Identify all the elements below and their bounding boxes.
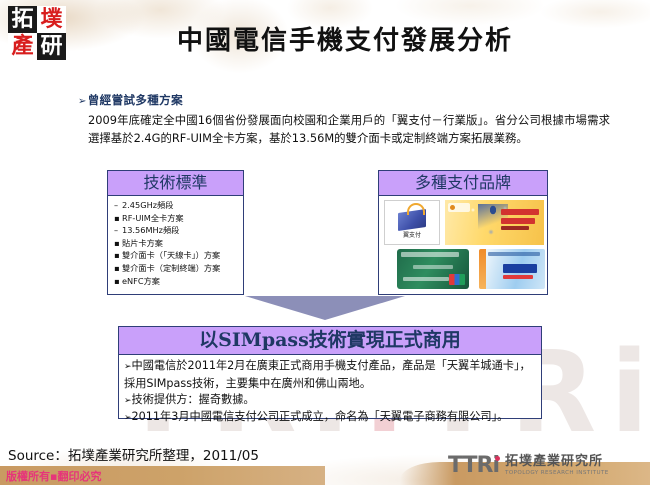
wallet-icon: 翼支付 <box>384 200 440 245</box>
tri-institute-logo: TTRi 拓墣產業研究所 TOPOLOGY RESEARCH INSTITUTE <box>448 452 648 480</box>
ad-slogan-graphic <box>501 209 541 233</box>
tri-name-english: TOPOLOGY RESEARCH INSTITUTE <box>505 469 609 477</box>
list-text: 2.45GHz頻段 <box>122 200 173 210</box>
tri-name-chinese: 拓墣產業研究所 <box>505 455 609 469</box>
list-item: ▪雙介面卡（定制終端）方案 <box>114 262 238 275</box>
list-item: ▪eNFC方案 <box>114 275 238 288</box>
result-bullet: ➢中國電信於2011年2月在廣東正式商用手機支付產品，產品是「天翼羊城通卡」，採… <box>124 358 536 392</box>
card-header-line <box>488 252 540 256</box>
bullet-arrow-icon: ➢ <box>124 413 132 423</box>
card-subtitle-line <box>503 275 533 279</box>
result-bullet-text: 中國電信於2011年2月在廣東正式商用手機支付產品，產品是「天翼羊城通卡」，採用… <box>124 359 531 390</box>
list-item: ▪貼片卡方案 <box>114 237 238 250</box>
list-item: ▪雙介面卡（「天線卡」）方案 <box>114 249 238 262</box>
slide-title: 中國電信手機支付發展分析 <box>95 20 595 57</box>
list-text: 雙介面卡（定制終端）方案 <box>122 263 220 273</box>
section-subheading: ➢曾經嘗試多種方案 <box>78 92 183 108</box>
payment-brands-box: 多種支付品牌 翼支付 <box>378 170 548 295</box>
wallet-caption: 翼支付 <box>385 231 439 240</box>
bullet-arrow-icon: ➢ <box>124 396 132 406</box>
payment-brands-header: 多種支付品牌 <box>379 171 547 196</box>
slide-canvas: TRi.TRi 拓 墣 產 研 中國電信手機支付發展分析 ➢曾經嘗試多種方案 2… <box>0 0 650 485</box>
result-bullet: ➢2011年3月中國電信支付公司正式成立，命名為「天翼電子商務有限公司」。 <box>124 409 536 427</box>
payment-brands-gallery: 翼支付 <box>379 196 547 292</box>
tech-standards-header: 技術標準 <box>108 171 243 196</box>
list-text: RF-UIM全卡方案 <box>122 213 184 223</box>
list-item: ▪RF-UIM全卡方案 <box>114 212 238 225</box>
tech-standards-box: 技術標準 –2.45GHz頻段 ▪RF-UIM全卡方案 –13.56MHz頻段 … <box>107 170 244 295</box>
list-marker: ▪ <box>114 249 122 262</box>
list-text: 貼片卡方案 <box>122 238 163 248</box>
tech-standards-list: –2.45GHz頻段 ▪RF-UIM全卡方案 –13.56MHz頻段 ▪貼片卡方… <box>114 199 238 287</box>
card-bank-name-line <box>401 252 459 257</box>
tri-logo-mark: 拓 墣 產 研 <box>8 6 66 60</box>
card-brand-line <box>413 265 453 269</box>
result-bullet-text: 2011年3月中國電信支付公司正式成立，命名為「天翼電子商務有限公司」。 <box>132 410 509 423</box>
bullet-arrow-icon: ➢ <box>78 96 87 107</box>
card-number-line <box>403 277 449 281</box>
list-marker: ▪ <box>114 212 122 225</box>
green-bank-card <box>397 249 469 289</box>
result-bullet: ➢技術提供方：握奇數據。 <box>124 392 536 410</box>
list-text: eNFC方案 <box>122 276 160 286</box>
source-note: Source：拓墣產業研究所整理，2011/05 <box>8 444 259 464</box>
simpass-result-header: 以SIMpass技術實現正式商用 <box>119 327 541 355</box>
logo-char-1: 拓 <box>8 6 37 33</box>
yellow-ad-banner <box>445 200 544 245</box>
list-marker: – <box>114 199 122 212</box>
tri-logotype-text: TTRi <box>448 453 499 478</box>
copyright-bar: 版權所有▪翻印必究 <box>0 466 325 485</box>
tech-standards-body: –2.45GHz頻段 ▪RF-UIM全卡方案 –13.56MHz頻段 ▪貼片卡方… <box>108 196 243 290</box>
list-text: 13.56MHz頻段 <box>122 225 179 235</box>
unionpay-logo-icon <box>449 274 465 285</box>
section-subheading-label: 曾經嘗試多種方案 <box>88 93 183 107</box>
wallet-handle-shape <box>407 203 425 215</box>
list-item: –2.45GHz頻段 <box>114 199 238 212</box>
wallet-graphic <box>385 201 439 231</box>
list-text: 雙介面卡（「天線卡」）方案 <box>122 250 220 260</box>
simpass-result-box: 以SIMpass技術實現正式商用 ➢中國電信於2011年2月在廣東正式商用手機支… <box>118 326 542 419</box>
result-bullet-text: 技術提供方：握奇數據。 <box>132 393 255 406</box>
copyright-text: 版權所有▪翻印必究 <box>6 468 101 484</box>
logo-char-2: 墣 <box>37 6 66 33</box>
logo-char-4: 研 <box>37 33 66 60</box>
list-item: –13.56MHz頻段 <box>114 224 238 237</box>
blue-yikatong-card <box>479 249 545 289</box>
list-marker: – <box>114 224 122 237</box>
tri-name-block: 拓墣產業研究所 TOPOLOGY RESEARCH INSTITUTE <box>505 455 609 477</box>
down-arrow-icon <box>245 296 405 320</box>
list-marker: ▪ <box>114 262 122 275</box>
card-wordmark <box>503 264 537 273</box>
logo-char-3: 產 <box>8 33 37 60</box>
list-marker: ▪ <box>114 275 122 288</box>
bullet-arrow-icon: ➢ <box>124 362 132 372</box>
simpass-result-body: ➢中國電信於2011年2月在廣東正式商用手機支付產品，產品是「天翼羊城通卡」，採… <box>119 355 541 427</box>
card-side-stripe <box>479 249 486 289</box>
tri-logotype: TTRi <box>448 455 499 477</box>
list-marker: ▪ <box>114 237 122 250</box>
tri-red-dot-icon <box>495 456 500 461</box>
intro-paragraph: 2009年底確定全中國16個省份發展面向校園和企業用戶的「翼支付－行業版」。省分… <box>88 112 610 147</box>
